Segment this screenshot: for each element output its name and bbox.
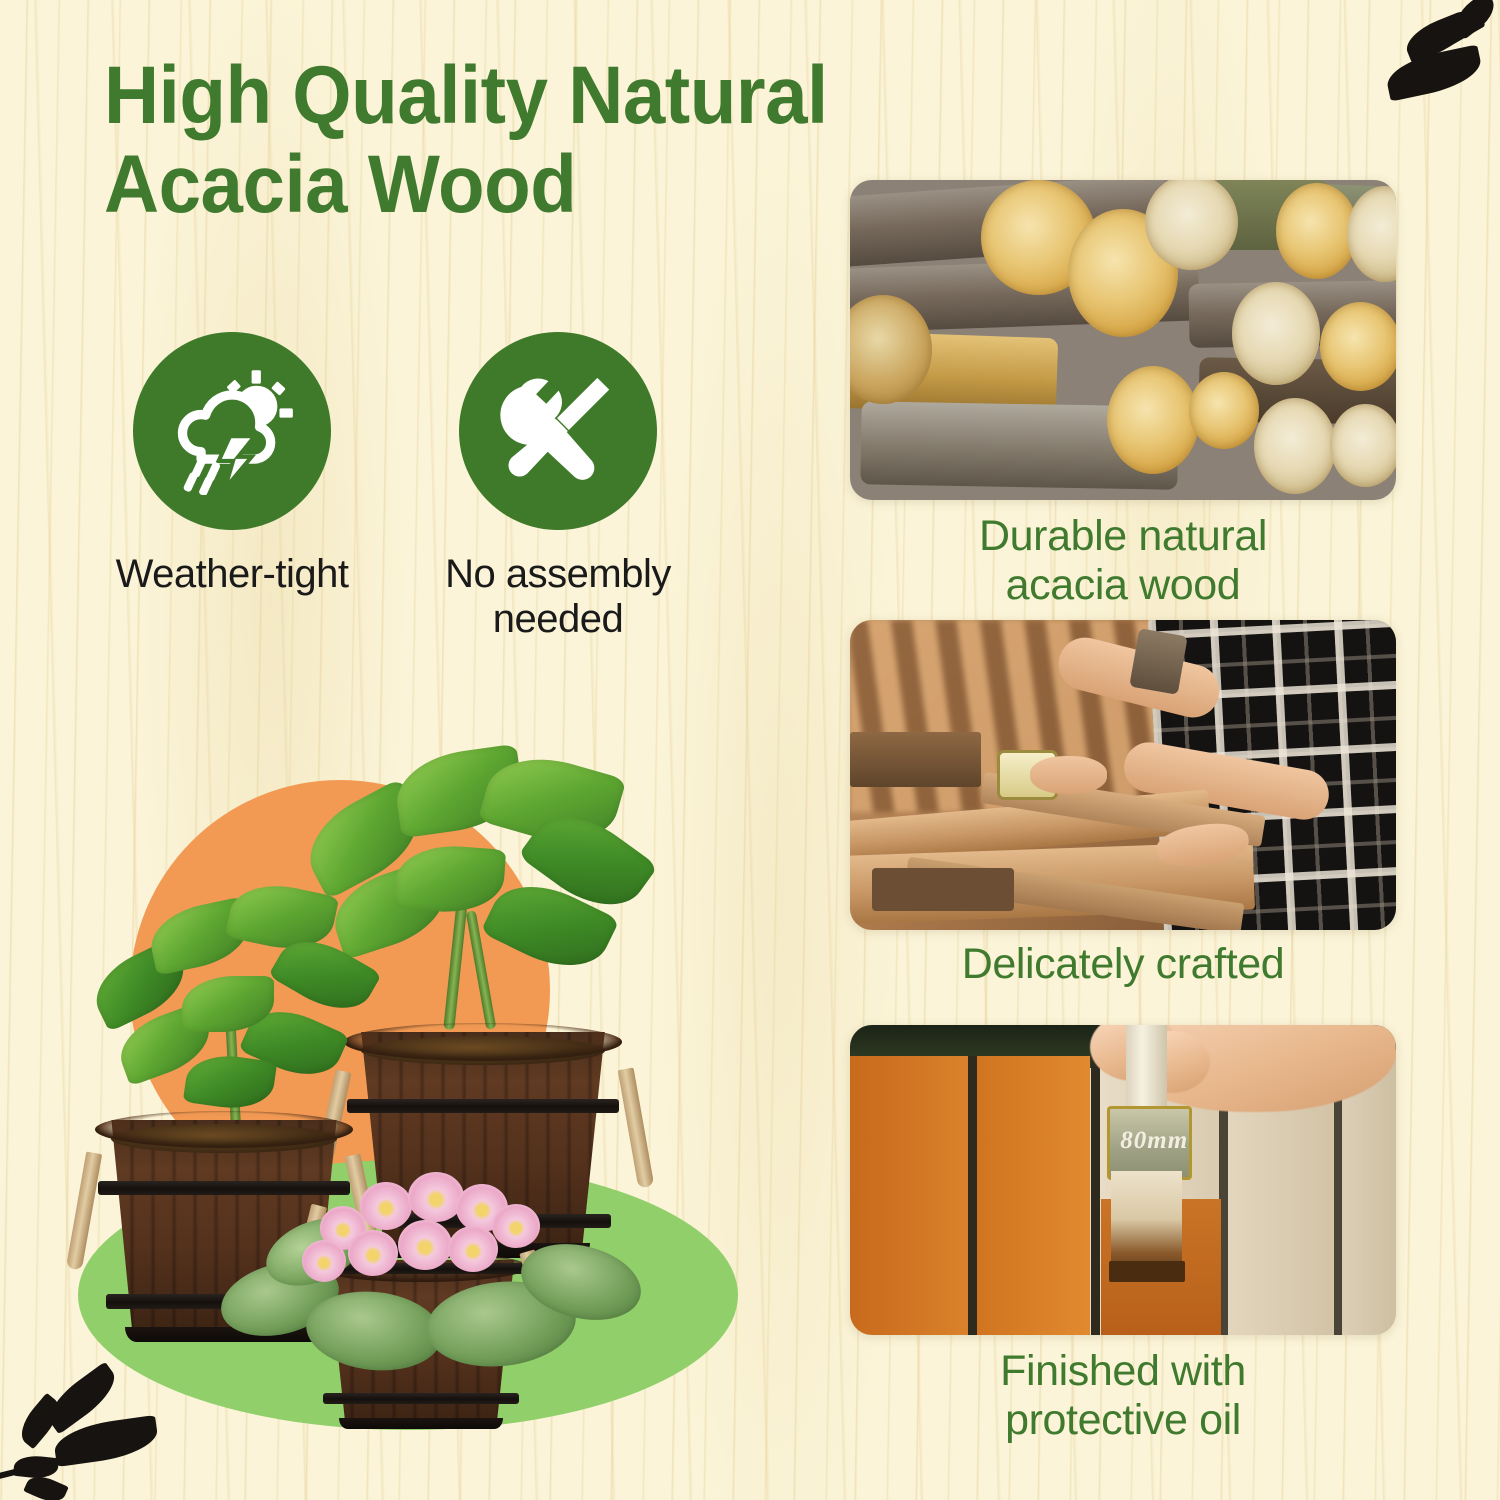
photo-caption-line-1: Durable natural <box>850 512 1396 561</box>
photo-card-acacia-logs: Durable natural acacia wood <box>850 180 1396 580</box>
photo-caption-line-2: acacia wood <box>850 561 1396 610</box>
infographic-canvas: High Quality Natural Acacia Wood <box>0 0 1500 1500</box>
photo-caption: Durable natural acacia wood <box>850 512 1396 609</box>
feature-badge-weather-tight: Weather-tight <box>108 332 356 642</box>
brush-size-label: 80mm <box>1120 1127 1188 1155</box>
page-title: High Quality Natural Acacia Wood <box>104 52 978 229</box>
feature-badge-list: Weather-tight <box>108 332 728 642</box>
badge-circle <box>459 332 657 530</box>
photo-caption-line-1: Delicately crafted <box>850 940 1396 989</box>
badge-circle <box>133 332 331 530</box>
leaf-sprig-icon-top-right <box>1370 0 1500 120</box>
photo-card-delicately-crafted: Delicately crafted <box>850 620 1396 1000</box>
feature-badge-no-assembly: No assembly needed <box>434 332 682 642</box>
feature-badge-label: Weather-tight <box>116 552 349 597</box>
brush-applying-oil-photo: 80mm <box>850 1025 1396 1335</box>
page-title-line-2: Acacia Wood <box>104 141 978 230</box>
stacked-acacia-logs-photo <box>850 180 1396 500</box>
african-violet-plant <box>220 1160 640 1400</box>
feature-badge-label: No assembly needed <box>445 552 671 642</box>
leaf-sprig-icon-bottom-left <box>0 1360 180 1500</box>
hero-product-image <box>60 760 760 1440</box>
photo-caption-line-1: Finished with <box>850 1347 1396 1396</box>
tools-wrench-screwdriver-icon <box>495 366 621 497</box>
carpenter-measuring-wood-photo <box>850 620 1396 930</box>
weather-storm-icon <box>166 363 298 500</box>
photo-caption: Finished with protective oil <box>850 1347 1396 1444</box>
fiddle-leaf-fig-foliage <box>90 880 380 1140</box>
rope-handle <box>66 1152 102 1271</box>
page-title-line-1: High Quality Natural <box>104 52 978 141</box>
photo-caption-line-2: protective oil <box>850 1396 1396 1445</box>
photo-card-protective-oil: 80mm Finished with protective oil <box>850 1025 1396 1445</box>
photo-caption: Delicately crafted <box>850 940 1396 989</box>
